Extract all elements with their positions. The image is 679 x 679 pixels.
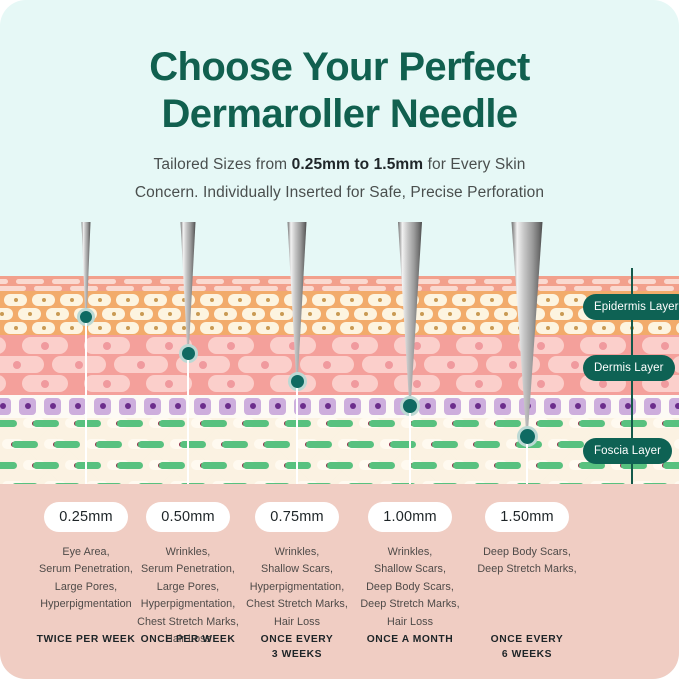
fascia-fiber	[264, 441, 290, 448]
epidermis-cell-nucleus	[126, 326, 130, 330]
epidermis-cell-nucleus	[490, 326, 494, 330]
epidermis-cell-nucleus	[602, 326, 606, 330]
epidermis-cell-nucleus	[252, 312, 256, 316]
fascia-fiber	[33, 462, 59, 469]
basal-cell-nucleus	[450, 403, 456, 409]
basal-cell-nucleus	[375, 403, 381, 409]
epidermis-cell-nucleus	[70, 298, 74, 302]
fascia-fiber	[411, 420, 437, 427]
epidermis-cell-nucleus	[294, 298, 298, 302]
basal-cell-nucleus	[175, 403, 181, 409]
needle-column-0.75mm: 0.75mmWrinkles,Shallow Scars,Hyperpigmen…	[238, 502, 356, 631]
dermis-cell-nucleus	[199, 361, 207, 369]
epidermis-cell-nucleus	[210, 326, 214, 330]
fascia-fiber	[327, 462, 353, 469]
corneum-brick	[340, 279, 368, 284]
corneum-brick	[412, 279, 440, 284]
epidermis-cell-nucleus	[98, 298, 102, 302]
needle-size-panel: 0.25mmEye Area,Serum Penetration,Large P…	[0, 484, 679, 679]
layer-label-foscia-layer: Foscia Layer	[583, 438, 672, 464]
layer-label-epidermis-layer: Epidermis Layer	[583, 294, 679, 320]
basal-cell-nucleus	[125, 403, 131, 409]
epidermis-cell-nucleus	[196, 312, 200, 316]
epidermis-cell-nucleus	[308, 312, 312, 316]
epidermis-cell-nucleus	[434, 298, 438, 302]
dermis-cell-nucleus	[661, 380, 669, 388]
fascia-fiber	[159, 462, 185, 469]
epidermis-cell-nucleus	[154, 298, 158, 302]
subtitle-line-2: Concern. Individually Inserted for Safe,…	[135, 184, 544, 201]
epidermis-cell-nucleus	[154, 326, 158, 330]
subtitle-range: 0.25mm to 1.5mm	[292, 156, 424, 173]
dermis-cell	[0, 337, 6, 354]
epidermis-cell-nucleus	[518, 326, 522, 330]
basal-cell-nucleus	[100, 403, 106, 409]
epidermis-cell-nucleus	[406, 298, 410, 302]
fascia-fiber	[495, 420, 521, 427]
epidermis-cell-nucleus	[70, 326, 74, 330]
epidermis-cell-nucleus	[574, 326, 578, 330]
corneum-brick	[376, 279, 404, 284]
dermis-cell-nucleus	[537, 342, 545, 350]
basal-cell-nucleus	[275, 403, 281, 409]
epidermis-cell-nucleus	[420, 312, 424, 316]
epidermis-cell-nucleus	[322, 298, 326, 302]
fascia-fiber	[537, 420, 563, 427]
epidermis-cell-nucleus	[504, 312, 508, 316]
fascia-fiber	[201, 462, 227, 469]
basal-cell-nucleus	[425, 403, 431, 409]
epidermis-cell-nucleus	[462, 326, 466, 330]
corneum-brick	[592, 279, 620, 284]
dermis-cell-nucleus	[103, 380, 111, 388]
dermis-cell-nucleus	[413, 342, 421, 350]
dermis-cell-nucleus	[323, 361, 331, 369]
basal-cell-nucleus	[150, 403, 156, 409]
fascia-fiber	[0, 462, 17, 469]
corneum-brick	[196, 279, 224, 284]
dermis-cell-nucleus	[227, 380, 235, 388]
basal-cell-nucleus	[575, 403, 581, 409]
epidermis-cell-nucleus	[448, 312, 452, 316]
basal-cell-nucleus	[350, 403, 356, 409]
corneum-brick	[448, 279, 476, 284]
epidermis-cell-nucleus	[280, 312, 284, 316]
fascia-fiber	[453, 462, 479, 469]
epidermis-cell-nucleus	[378, 298, 382, 302]
basal-cell-nucleus	[325, 403, 331, 409]
corneum-brick	[268, 279, 296, 284]
epidermis-cell-nucleus	[406, 326, 410, 330]
corneum-brick	[160, 279, 188, 284]
dermis-cell-nucleus	[41, 342, 49, 350]
fascia-fiber	[75, 462, 101, 469]
needle-frequency-0.75mm: ONCE EVERY3 WEEKS	[238, 633, 356, 663]
needle-column-0.25mm: 0.25mmEye Area,Serum Penetration,Large P…	[27, 502, 145, 614]
fascia-fiber	[432, 441, 458, 448]
infographic-card: Choose Your Perfect Dermaroller Needle T…	[0, 0, 679, 679]
epidermis-cell-nucleus	[294, 326, 298, 330]
epidermis-cell-nucleus	[224, 312, 228, 316]
epidermis-cell-nucleus	[140, 312, 144, 316]
needle-size-pill-1.00mm[interactable]: 1.00mm	[368, 502, 452, 532]
epidermis-cell-nucleus	[658, 326, 662, 330]
fascia-fiber	[348, 441, 374, 448]
page-title: Choose Your Perfect Dermaroller Needle	[0, 0, 679, 138]
dermis-cell	[0, 375, 6, 392]
dermis-cell-nucleus	[13, 361, 21, 369]
epidermis-cell-nucleus	[238, 326, 242, 330]
needle-uses-0.25mm: Eye Area,Serum Penetration,Large Pores,H…	[27, 544, 145, 614]
basal-cell-nucleus	[75, 403, 81, 409]
basal-cell-nucleus	[300, 403, 306, 409]
basal-cell-nucleus	[600, 403, 606, 409]
epidermis-cell-nucleus	[14, 326, 18, 330]
stratum-corneum-layer	[0, 276, 679, 291]
fascia-fiber	[0, 420, 17, 427]
fascia-fiber	[411, 462, 437, 469]
epidermis-cell-nucleus	[56, 312, 60, 316]
guide-line	[85, 323, 87, 510]
dermis-cell-nucleus	[385, 361, 393, 369]
epidermis-cell-nucleus	[266, 298, 270, 302]
epidermis-cell-nucleus	[350, 298, 354, 302]
epidermis-cell-nucleus	[378, 326, 382, 330]
epidermis-cell-nucleus	[434, 326, 438, 330]
basal-cell-nucleus	[250, 403, 256, 409]
dermis-cell	[0, 356, 44, 373]
basal-cell-nucleus	[525, 403, 531, 409]
dermis-layer	[0, 335, 679, 395]
epidermis-cell-nucleus	[560, 312, 564, 316]
fascia-fiber	[663, 420, 679, 427]
epidermis-cell-nucleus	[546, 326, 550, 330]
dermis-cell-nucleus	[351, 342, 359, 350]
fascia-fiber	[96, 441, 122, 448]
epidermis-cell-nucleus	[168, 312, 172, 316]
epidermis-cell-nucleus	[574, 298, 578, 302]
fascia-layer	[0, 418, 679, 484]
epidermis-cell-nucleus	[0, 312, 4, 316]
needle-uses-1.50mm: Deep Body Scars,Deep Stretch Marks,	[468, 544, 586, 579]
skin-cross-section	[0, 276, 679, 484]
epidermis-cell-nucleus	[42, 298, 46, 302]
epidermis-cell-nucleus	[490, 298, 494, 302]
epidermis-cell-nucleus	[336, 312, 340, 316]
epidermis-cell-nucleus	[476, 312, 480, 316]
dermis-cell-nucleus	[165, 380, 173, 388]
dermis-cell-nucleus	[599, 342, 607, 350]
fascia-fiber	[579, 420, 605, 427]
needle-size-pill-1.50mm[interactable]: 1.50mm	[485, 502, 569, 532]
epidermis-cell-nucleus	[546, 298, 550, 302]
title-line-2: Dermaroller Needle	[161, 92, 517, 136]
needle-column-1.50mm: 1.50mmDeep Body Scars,Deep Stretch Marks…	[468, 502, 586, 579]
fascia-fiber	[180, 441, 206, 448]
fascia-fiber	[306, 441, 332, 448]
fascia-fiber	[12, 441, 38, 448]
epidermis-cell-nucleus	[532, 312, 536, 316]
epidermis-cell-nucleus	[182, 326, 186, 330]
needle-column-1.00mm: 1.00mmWrinkles,Shallow Scars,Deep Body S…	[351, 502, 469, 631]
dermis-cell-nucleus	[413, 380, 421, 388]
header: Choose Your Perfect Dermaroller Needle T…	[0, 0, 679, 212]
basal-cell-nucleus	[475, 403, 481, 409]
subtitle: Tailored Sizes from 0.25mm to 1.5mm for …	[0, 138, 679, 205]
fascia-fiber	[369, 420, 395, 427]
title-line-1: Choose Your Perfect	[149, 45, 530, 89]
dermis-cell-nucleus	[537, 380, 545, 388]
layer-label-dermis-layer: Dermis Layer	[583, 355, 675, 381]
dermis-cell-nucleus	[351, 380, 359, 388]
fascia-fiber	[33, 420, 59, 427]
dermis-cell-nucleus	[103, 342, 111, 350]
fascia-fiber	[390, 441, 416, 448]
basal-cell-nucleus	[500, 403, 506, 409]
fascia-fiber	[285, 462, 311, 469]
fascia-fiber	[285, 420, 311, 427]
fascia-fiber	[117, 420, 143, 427]
basal-cell-nucleus	[550, 403, 556, 409]
fascia-fiber	[243, 462, 269, 469]
epidermis-cell-nucleus	[126, 298, 130, 302]
fascia-fiber	[243, 420, 269, 427]
epidermis-cell-nucleus	[42, 326, 46, 330]
fascia-fiber	[201, 420, 227, 427]
needle-frequency-1.50mm: ONCE EVERY6 WEEKS	[468, 633, 586, 663]
basal-cell-row	[0, 395, 679, 418]
needle-size-pill-0.50mm[interactable]: 0.50mm	[146, 502, 230, 532]
fascia-fiber	[453, 420, 479, 427]
dermis-cell-nucleus	[475, 380, 483, 388]
fascia-cell	[674, 439, 679, 449]
corneum-brick	[520, 279, 548, 284]
dermis-cell-nucleus	[661, 342, 669, 350]
fascia-fiber	[54, 441, 80, 448]
dermis-cell-nucleus	[41, 380, 49, 388]
dermis-cell-nucleus	[447, 361, 455, 369]
fascia-fiber	[558, 441, 584, 448]
corneum-brick	[556, 279, 584, 284]
corneum-brick	[124, 279, 152, 284]
epidermis-cell-nucleus	[462, 298, 466, 302]
dermis-cell-nucleus	[599, 380, 607, 388]
fascia-fiber	[495, 462, 521, 469]
dermis-cell-nucleus	[261, 361, 269, 369]
fascia-fiber	[327, 420, 353, 427]
fascia-fiber	[537, 462, 563, 469]
fascia-fiber	[222, 441, 248, 448]
basal-cell-nucleus	[25, 403, 31, 409]
needle-frequency-1.00mm: ONCE A MONTH	[351, 633, 469, 648]
epidermis-cell-nucleus	[350, 326, 354, 330]
dermis-cell-nucleus	[571, 361, 579, 369]
basal-cell-nucleus	[0, 403, 6, 409]
fascia-fiber	[663, 462, 679, 469]
dermis-cell-nucleus	[165, 342, 173, 350]
epidermis-cell-nucleus	[518, 298, 522, 302]
epidermis-cell-nucleus	[266, 326, 270, 330]
dermis-cell-nucleus	[137, 361, 145, 369]
epidermis-cell-nucleus	[238, 298, 242, 302]
basal-cell-nucleus	[675, 403, 679, 409]
epidermis-cell-nucleus	[210, 298, 214, 302]
epidermis-cell-nucleus	[98, 326, 102, 330]
dermis-cell-nucleus	[289, 342, 297, 350]
basal-cell-nucleus	[50, 403, 56, 409]
fascia-fiber	[117, 462, 143, 469]
corneum-brick	[304, 279, 332, 284]
needle-frequency-0.50mm: ONCE PER WEEK	[129, 633, 247, 648]
needle-column-0.50mm: 0.50mmWrinkles,Serum Penetration,Large P…	[129, 502, 247, 649]
fascia-fiber	[75, 420, 101, 427]
dermis-cell-nucleus	[227, 342, 235, 350]
basal-cell-nucleus	[225, 403, 231, 409]
corneum-brick	[664, 279, 679, 284]
fascia-fiber	[474, 441, 500, 448]
epidermis-cell-nucleus	[364, 312, 368, 316]
needle-frequency-0.25mm: TWICE PER WEEK	[27, 633, 145, 648]
fascia-fiber	[369, 462, 395, 469]
subtitle-post: for Every Skin	[423, 156, 525, 173]
needle-uses-1.00mm: Wrinkles,Shallow Scars,Deep Body Scars,D…	[351, 544, 469, 631]
epidermis-cell-nucleus	[182, 298, 186, 302]
epidermis-layer	[0, 291, 679, 335]
corneum-brick	[88, 279, 116, 284]
epidermis-cell-nucleus	[392, 312, 396, 316]
dermis-cell-nucleus	[475, 342, 483, 350]
basal-cell-nucleus	[200, 403, 206, 409]
epidermis-cell-nucleus	[28, 312, 32, 316]
corneum-brick	[52, 279, 80, 284]
subtitle-pre: Tailored Sizes from	[154, 156, 292, 173]
epidermis-cell-nucleus	[14, 298, 18, 302]
dermis-cell-nucleus	[509, 361, 517, 369]
needle-uses-0.75mm: Wrinkles,Shallow Scars,Hyperpigmentation…	[238, 544, 356, 631]
corneum-brick	[16, 279, 44, 284]
basal-cell-nucleus	[650, 403, 656, 409]
fascia-fiber	[621, 420, 647, 427]
corneum-brick	[484, 279, 512, 284]
dermis-cell-nucleus	[75, 361, 83, 369]
corneum-brick	[232, 279, 260, 284]
fascia-fiber	[138, 441, 164, 448]
fascia-fiber	[159, 420, 185, 427]
needle-size-pill-0.75mm[interactable]: 0.75mm	[255, 502, 339, 532]
epidermis-cell-nucleus	[322, 326, 326, 330]
corneum-brick	[0, 279, 8, 284]
needle-size-pill-0.25mm[interactable]: 0.25mm	[44, 502, 128, 532]
epidermis-cell-nucleus	[112, 312, 116, 316]
